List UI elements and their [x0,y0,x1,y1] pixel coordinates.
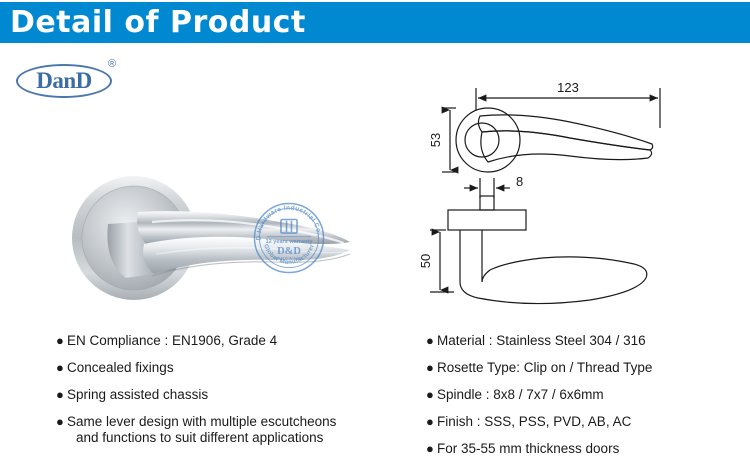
spec-item: ● Finish : SSS, PSS, PVD, AB, AC [426,414,746,430]
spec-item: ● For 35-55 mm thickness doors [426,441,746,457]
logo-wordmark: DanD [16,64,112,98]
brand-logo: DanD ® [16,58,136,100]
spec-item-text: Spindle : 8x8 / 7x7 / 6x6mm [437,387,746,403]
bullet-dot-icon: ● [56,360,67,376]
page-header-bar: Detail of Product [0,2,750,43]
spec-item-text: Concealed fixings [67,360,396,376]
bullet-dot-icon: ● [56,333,67,349]
spec-item-text: Finish : SSS, PSS, PVD, AB, AC [437,414,746,430]
bullet-dot-icon: ● [426,414,437,430]
watermark-seal-graphic: D&D Hardware Industrial Co., Ltd Global … [252,201,326,275]
spec-item: ● Same lever design with multiple escutc… [56,414,396,446]
spec-item: ● Rosette Type: Clip on / Thread Type [426,360,746,376]
bullet-dot-icon: ● [426,441,437,457]
spec-item-text: Same lever design with multiple escutche… [67,414,336,429]
seal-warranty-text: 12 years warranty [266,239,314,245]
spec-item-text: Spring assisted chassis [67,387,396,403]
technical-drawing: 123 53 8 [420,70,750,310]
technical-drawing-svg: 123 53 8 [420,70,750,310]
dimension-length-label: 123 [557,80,579,95]
spec-item: ● Concealed fixings [56,360,396,376]
spec-item: ● Spring assisted chassis [56,387,396,403]
bullet-dot-icon: ● [426,360,437,376]
bullet-dot-icon: ● [426,387,437,403]
bullet-dot-icon: ● [56,387,67,403]
seal-subbrand-text: HARDWARE [274,256,304,261]
spec-item: ● Material : Stainless Steel 304 / 316 [426,333,746,349]
spindle-dimension: 8 [464,174,523,198]
spec-list-right: ● Material : Stainless Steel 304 / 316 ●… [426,333,746,468]
handle-top-view: 123 53 [428,80,660,172]
bullet-dot-icon: ● [426,333,437,349]
spec-item-text-continuation: and functions to suit different applicat… [67,430,396,446]
dimension-projection-label: 50 [420,254,433,268]
spec-item-text: Rosette Type: Clip on / Thread Type [437,360,746,376]
spec-list-left: ● EN Compliance : EN1906, Grade 4 ● Conc… [56,333,396,457]
seal-emblem-icon [281,220,297,234]
spec-item: ● Spindle : 8x8 / 7x7 / 6x6mm [426,387,746,403]
spec-item-text: For 35-55 mm thickness doors [437,441,746,457]
page-title: Detail of Product [10,6,306,40]
spec-item-text: EN Compliance : EN1906, Grade 4 [67,333,396,349]
watermark-seal: D&D Hardware Industrial Co., Ltd Global … [252,201,326,275]
handle-side-view: 50 [420,196,647,304]
dimension-rosette-label: 53 [428,133,443,147]
spec-item: ● EN Compliance : EN1906, Grade 4 [56,333,396,349]
spec-item-text: Material : Stainless Steel 304 / 316 [437,333,746,349]
bullet-dot-icon: ● [56,414,67,430]
registered-trademark-icon: ® [108,58,116,70]
dimension-spindle-label: 8 [516,174,523,189]
